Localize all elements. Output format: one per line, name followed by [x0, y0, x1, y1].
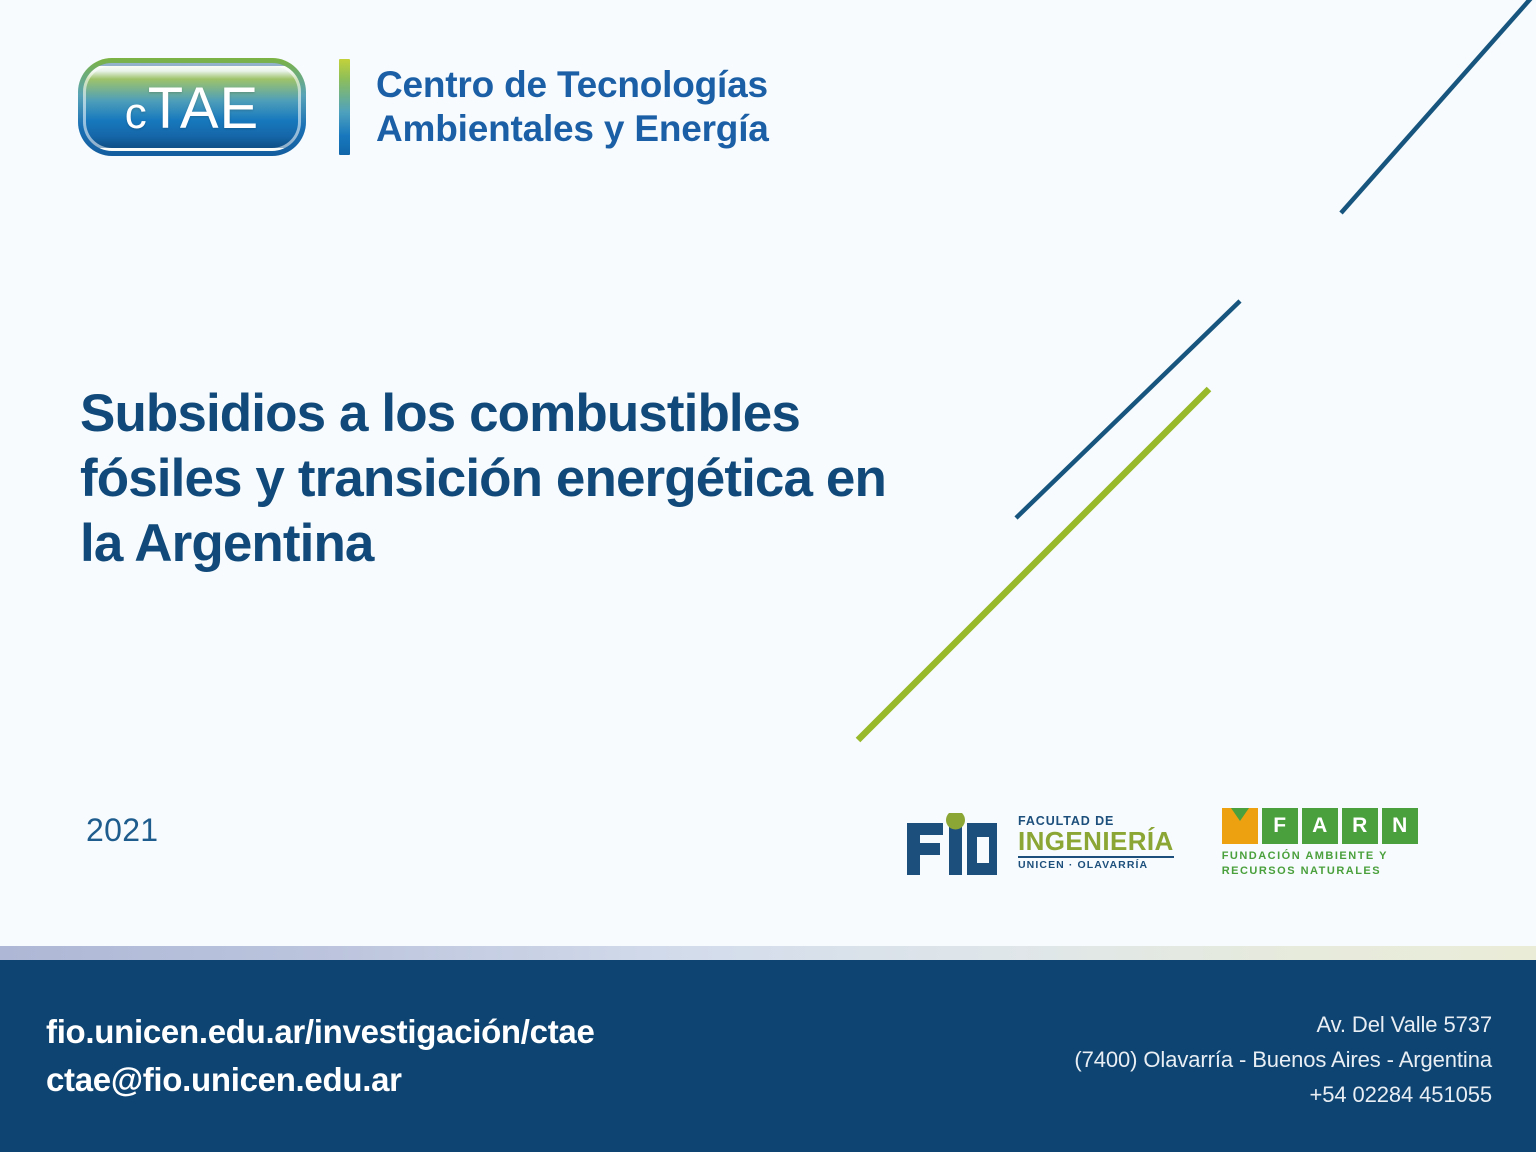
- farn-logo: F A R N FUNDACIÓN AMBIENTE Y RECURSOS NA…: [1222, 808, 1418, 879]
- farn-block-r: R: [1342, 808, 1378, 844]
- footer: fio.unicen.edu.ar/investigación/ctae cta…: [0, 960, 1536, 1152]
- diagonal-blue-top-right-line: [1341, 0, 1536, 213]
- fio-wordmark: FACULTAD DE INGENIERÍA UNICEN · OLAVARRÍ…: [1018, 815, 1174, 872]
- ctae-logo-text: cTAE: [125, 80, 260, 138]
- footer-address-line1: Av. Del Valle 5737: [1074, 1008, 1492, 1043]
- header-title: Centro de Tecnologías Ambientales y Ener…: [376, 63, 769, 152]
- year-label: 2021: [86, 812, 158, 849]
- fio-line-unicen: UNICEN · OLAVARRÍA: [1018, 860, 1174, 871]
- footer-contact-links: fio.unicen.edu.ar/investigación/ctae cta…: [46, 1008, 595, 1104]
- partner-logos: FACULTAD DE INGENIERÍA UNICEN · OLAVARRÍ…: [905, 808, 1418, 879]
- slide-root: cTAE Centro de Tecnologías Ambientales y…: [0, 0, 1536, 1152]
- ctae-logo-text-c: c: [125, 89, 148, 138]
- farn-triangle-notch-icon: [1231, 808, 1249, 821]
- fio-divider-rule: [1018, 856, 1174, 858]
- ctae-logo-text-tae: TAE: [148, 76, 260, 141]
- farn-block-n: N: [1382, 808, 1418, 844]
- footer-website[interactable]: fio.unicen.edu.ar/investigación/ctae: [46, 1008, 595, 1056]
- fio-logo: FACULTAD DE INGENIERÍA UNICEN · OLAVARRÍ…: [905, 813, 1174, 875]
- footer-phone: +54 02284 451055: [1074, 1078, 1492, 1113]
- ctae-logo-inner: cTAE: [83, 63, 301, 151]
- footer-gradient-band: [0, 946, 1536, 960]
- footer-address-line2: (7400) Olavarría - Buenos Aires - Argent…: [1074, 1043, 1492, 1078]
- farn-block-orange: [1222, 808, 1258, 844]
- fio-line-ingenieria: INGENIERÍA: [1018, 828, 1174, 855]
- farn-caption: FUNDACIÓN AMBIENTE Y RECURSOS NATURALES: [1222, 849, 1418, 879]
- farn-block-f: F: [1262, 808, 1298, 844]
- page-title: Subsidios a los combustibles fósiles y t…: [80, 381, 960, 577]
- header-divider: [339, 59, 350, 155]
- farn-letter-blocks: F A R N: [1222, 808, 1418, 844]
- farn-block-a: A: [1302, 808, 1338, 844]
- footer-address: Av. Del Valle 5737 (7400) Olavarría - Bu…: [1074, 1008, 1492, 1112]
- footer-email[interactable]: ctae@fio.unicen.edu.ar: [46, 1056, 595, 1104]
- fio-monogram-icon: [905, 813, 1009, 875]
- header: cTAE Centro de Tecnologías Ambientales y…: [78, 58, 769, 156]
- ctae-logo: cTAE: [78, 58, 306, 156]
- diagonal-blue-middle-line: [1016, 301, 1240, 518]
